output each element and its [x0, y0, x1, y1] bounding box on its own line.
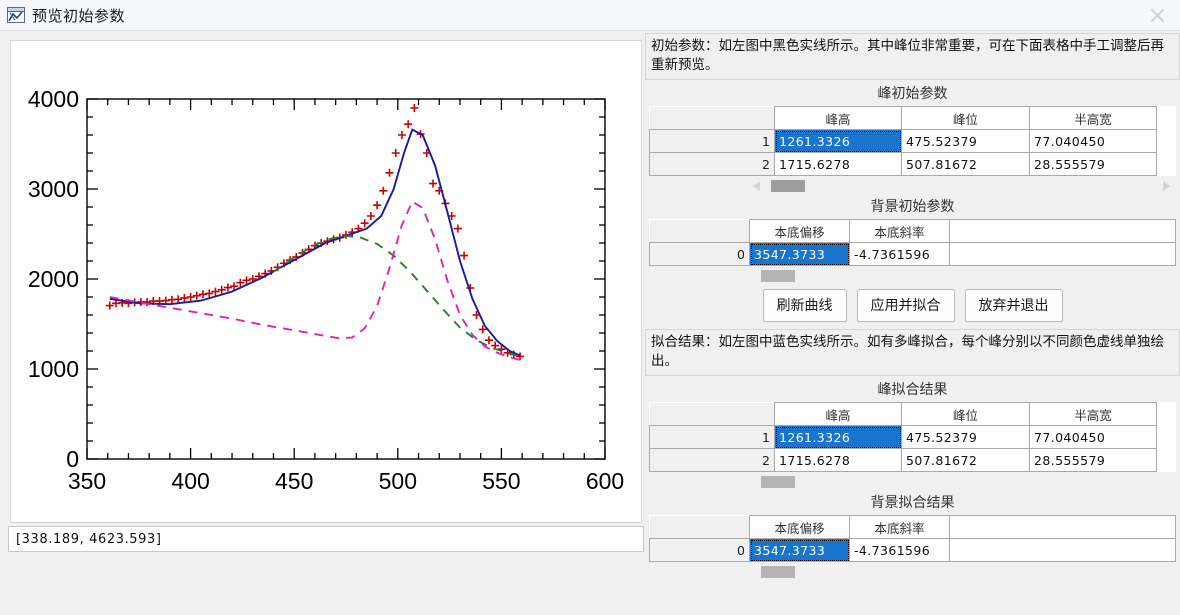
row-header[interactable]: 1 [650, 426, 775, 449]
svg-text:0: 0 [66, 446, 79, 472]
table-row[interactable]: 03547.3733-4.7361596 [650, 243, 1176, 266]
table-cell[interactable]: 1261.3326 [775, 130, 902, 153]
window-titlebar: 预览初始参数 [0, 0, 1180, 31]
row-header[interactable]: 0 [650, 243, 750, 266]
cursor-coordinates: [338.189, 4623.593] [9, 532, 162, 547]
column-header[interactable]: 峰位 [902, 107, 1030, 130]
table-row[interactable]: 21715.6278507.8167228.555579 [650, 449, 1176, 472]
scroll-left-icon[interactable] [753, 181, 760, 191]
table-cell[interactable]: 28.555579 [1030, 449, 1157, 472]
table-cell[interactable]: 1715.6278 [775, 153, 902, 176]
row-header[interactable]: 2 [650, 153, 775, 176]
table-cell[interactable]: 3547.3733 [750, 243, 850, 266]
table-row[interactable]: 11261.3326475.5237977.040450 [650, 130, 1176, 153]
table-cell[interactable]: 475.52379 [902, 130, 1030, 153]
scroll-thumb[interactable] [761, 476, 795, 488]
row-header[interactable]: 2 [650, 449, 775, 472]
background-fit-scrollbar[interactable] [649, 565, 1176, 579]
column-header[interactable]: 半高宽 [1030, 403, 1157, 426]
apply-and-fit-button[interactable]: 应用并拟合 [857, 289, 955, 322]
table-cell[interactable]: 1715.6278 [775, 449, 902, 472]
peak-initial-table-wrap: 峰高峰位半高宽11261.3326475.5237977.04045021715… [645, 106, 1180, 176]
scroll-thumb[interactable] [761, 566, 795, 578]
table-cell-blank[interactable] [950, 539, 1176, 562]
column-header[interactable]: 峰高 [775, 107, 902, 130]
action-button-row: 刷新曲线 应用并拟合 放弃并退出 [645, 283, 1180, 329]
scroll-thumb[interactable] [761, 270, 795, 282]
row-header[interactable]: 1 [650, 130, 775, 153]
table-cell[interactable]: 77.040450 [1030, 130, 1157, 153]
svg-text:2000: 2000 [28, 266, 79, 292]
table-cell[interactable]: -4.7361596 [850, 539, 950, 562]
column-header-blank [950, 220, 1176, 243]
peak-fit-scrollbar[interactable] [649, 475, 1176, 489]
background-fit-table-wrap: 本底偏移本底斜率03547.3733-4.7361596 [645, 515, 1180, 562]
column-header[interactable]: 峰位 [902, 403, 1030, 426]
initial-params-description: 初始参数：如左图中黑色实线所示。其中峰位非常重要，可在下面表格中手工调整后再重新… [645, 33, 1180, 80]
table-corner [650, 107, 775, 130]
svg-text:600: 600 [586, 468, 624, 494]
table-row[interactable]: 11261.3326475.5237977.040450 [650, 426, 1176, 449]
window-title: 预览初始参数 [32, 5, 125, 26]
table-cell[interactable]: 507.81672 [902, 449, 1030, 472]
scroll-thumb[interactable] [771, 180, 805, 192]
refresh-curve-button[interactable]: 刷新曲线 [763, 289, 847, 322]
parameters-panel: 初始参数：如左图中黑色实线所示。其中峰位非常重要，可在下面表格中手工调整后再重新… [645, 33, 1180, 615]
table-cell[interactable]: 475.52379 [902, 426, 1030, 449]
column-header[interactable]: 本底斜率 [850, 516, 950, 539]
background-initial-table[interactable]: 本底偏移本底斜率03547.3733-4.7361596 [649, 219, 1176, 266]
background-fit-title: 背景拟合结果 [645, 489, 1180, 515]
peak-fit-table-wrap: 峰高峰位半高宽11261.3326475.5237977.04045021715… [645, 402, 1180, 472]
svg-text:550: 550 [482, 468, 520, 494]
peak-fit-table[interactable]: 峰高峰位半高宽11261.3326475.5237977.04045021715… [649, 402, 1176, 472]
table-cell[interactable]: -4.7361596 [850, 243, 950, 266]
table-row[interactable]: 03547.3733-4.7361596 [650, 539, 1176, 562]
fit-result-description: 拟合结果：如左图中蓝色实线所示。如有多峰拟合，每个峰分别以不同颜色虚线单独绘出。 [645, 329, 1180, 376]
table-corner [650, 220, 750, 243]
table-cell[interactable]: 507.81672 [902, 153, 1030, 176]
table-cell[interactable]: 1261.3326 [775, 426, 902, 449]
table-cell[interactable]: 77.040450 [1030, 426, 1157, 449]
peak-initial-title: 峰初始参数 [645, 80, 1180, 106]
column-header-blank [950, 516, 1176, 539]
svg-text:450: 450 [275, 468, 313, 494]
status-bar: [338.189, 4623.593] [8, 526, 644, 552]
scroll-right-icon[interactable] [1163, 181, 1170, 191]
window-chart-icon [7, 7, 25, 23]
background-initial-scrollbar[interactable] [649, 269, 1176, 283]
peak-initial-table[interactable]: 峰高峰位半高宽11261.3326475.5237977.04045021715… [649, 106, 1176, 176]
table-cell[interactable]: 3547.3733 [750, 539, 850, 562]
svg-text:4000: 4000 [28, 86, 79, 112]
discard-and-exit-button[interactable]: 放弃并退出 [965, 289, 1063, 322]
column-header[interactable]: 本底斜率 [850, 220, 950, 243]
plot-panel[interactable]: 35040045050055060001000200030004000 [10, 40, 642, 523]
background-initial-title: 背景初始参数 [645, 193, 1180, 219]
row-header[interactable]: 0 [650, 539, 750, 562]
peak-initial-scrollbar[interactable] [649, 179, 1176, 193]
svg-text:500: 500 [379, 468, 417, 494]
table-cell-blank[interactable] [950, 243, 1176, 266]
column-header[interactable]: 本底偏移 [750, 220, 850, 243]
svg-text:3000: 3000 [28, 176, 79, 202]
spectrum-plot[interactable]: 35040045050055060001000200030004000 [11, 41, 641, 522]
column-header[interactable]: 半高宽 [1030, 107, 1157, 130]
table-row[interactable]: 21715.6278507.8167228.555579 [650, 153, 1176, 176]
background-fit-table[interactable]: 本底偏移本底斜率03547.3733-4.7361596 [649, 515, 1176, 562]
column-header[interactable]: 峰高 [775, 403, 902, 426]
background-initial-table-wrap: 本底偏移本底斜率03547.3733-4.7361596 [645, 219, 1180, 266]
table-corner [650, 516, 750, 539]
peak-fit-title: 峰拟合结果 [645, 376, 1180, 402]
table-cell[interactable]: 28.555579 [1030, 153, 1157, 176]
table-corner [650, 403, 775, 426]
column-header[interactable]: 本底偏移 [750, 516, 850, 539]
close-icon[interactable] [1134, 0, 1180, 31]
svg-text:1000: 1000 [28, 356, 79, 382]
svg-text:400: 400 [171, 468, 209, 494]
